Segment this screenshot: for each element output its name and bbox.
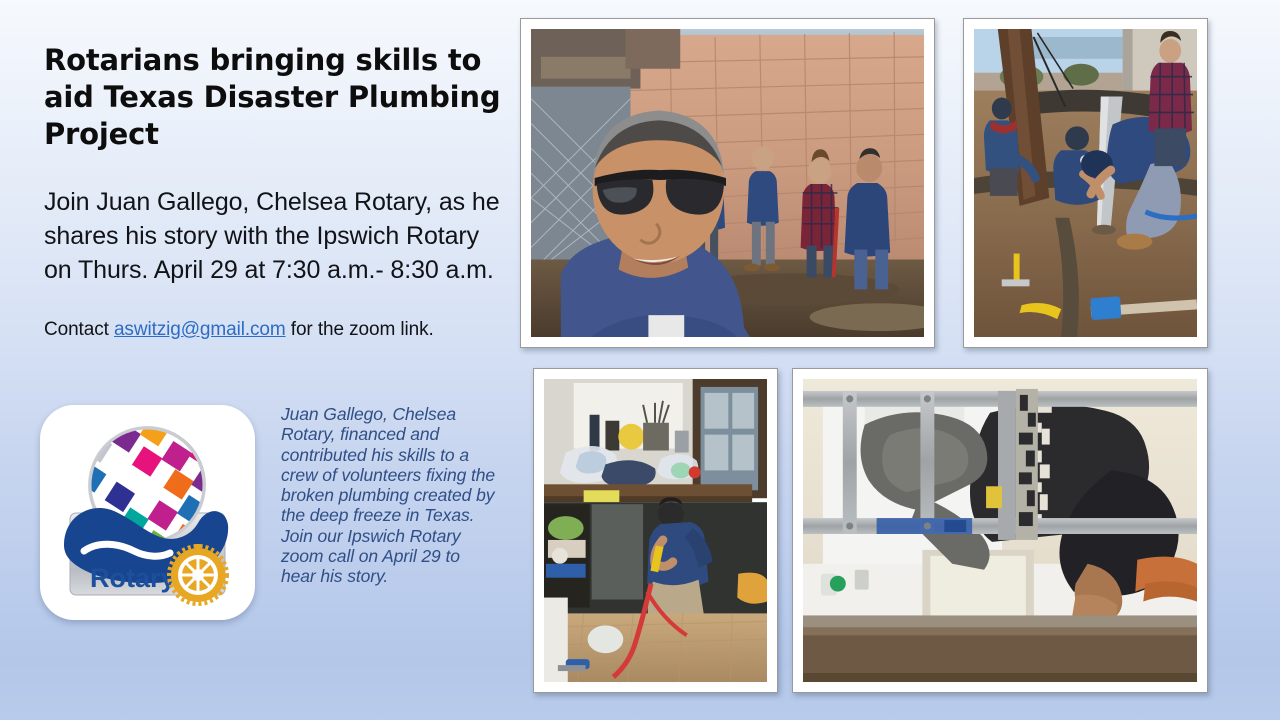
photo-4-image [803,379,1197,682]
photo-volunteer-reaching-through-wall-opening [792,368,1208,693]
contact-line: Contact aswitzig@gmail.com for the zoom … [44,317,514,342]
photo-3-image [544,379,767,682]
photo-2-image [974,29,1197,337]
rotary-wordmark: Rotary [90,563,176,593]
rotary-people-of-action-logo-icon: Rotary [40,405,255,620]
text-column: Rotarians bringing skills to aid Texas D… [44,42,514,342]
photo-crew-digging-trench-utility-pole [963,18,1208,348]
contact-suffix-text: for the zoom link. [286,319,434,340]
photo-volunteer-under-kitchen-counter [533,368,778,693]
photo-caption: Juan Gallego, Chelsea Rotary, financed a… [281,404,496,587]
contact-email-link[interactable]: aswitzig@gmail.com [114,319,286,340]
rotary-logo-tile: Rotary [40,405,255,620]
photo-selfie-volunteers-brick-wall [520,18,935,348]
contact-prefix-text: Contact [44,319,114,340]
photo-1-image [531,29,924,337]
page-title: Rotarians bringing skills to aid Texas D… [44,42,504,153]
event-description: Join Juan Gallego, Chelsea Rotary, as he… [44,185,504,287]
